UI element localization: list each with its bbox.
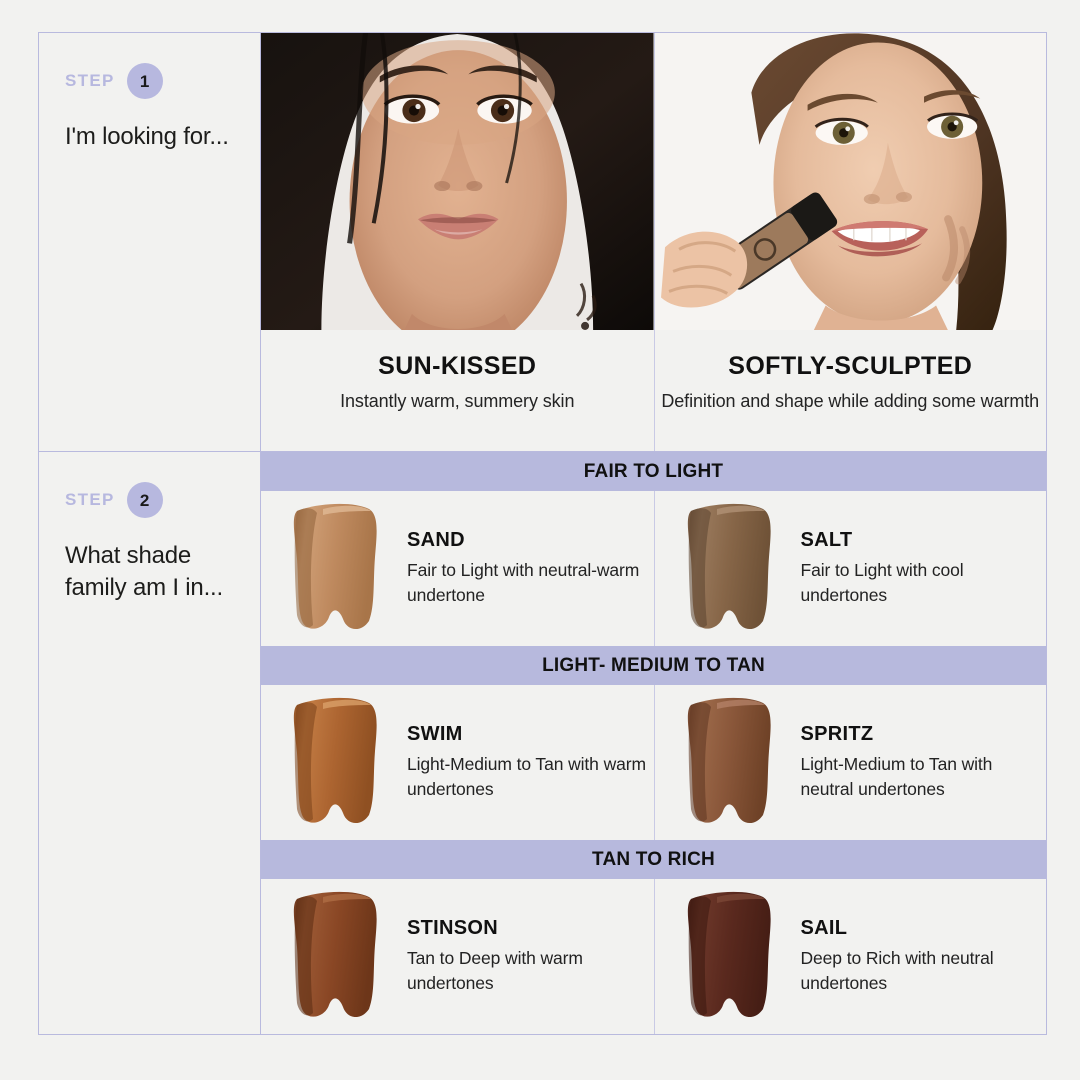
shade-row-tan-to-rich: STINSON Tan to Deep with warm undertones: [261, 879, 1046, 1034]
shade-text-spritz: SPRITZ Light-Medium to Tan with neutral …: [787, 723, 1047, 803]
step-2-label-cell: STEP 2 What shade family am I in...: [39, 452, 261, 1034]
shade-text-salt: SALT Fair to Light with cool undertones: [787, 529, 1047, 609]
step-2-band: STEP 2 What shade family am I in... FAIR…: [39, 452, 1046, 1034]
shade-desc-sand: Fair to Light with neutral-warm underton…: [407, 558, 654, 609]
shade-cell-spritz[interactable]: SPRITZ Light-Medium to Tan with neutral …: [654, 685, 1047, 840]
shade-group-fair-to-light: FAIR TO LIGHT: [261, 452, 1046, 646]
sun-kissed-title: SUN-KISSED: [261, 352, 654, 381]
shade-desc-swim: Light-Medium to Tan with warm undertones: [407, 752, 654, 803]
step-2-question: What shade family am I in...: [65, 540, 234, 603]
swatch-salt: [677, 499, 787, 639]
step-1-header: STEP 1: [65, 63, 234, 99]
swatch-spritz: [677, 693, 787, 833]
step-1-label-cell: STEP 1 I'm looking for...: [39, 33, 261, 451]
shade-row-light-medium-to-tan: SWIM Light-Medium to Tan with warm under…: [261, 685, 1046, 840]
softly-sculpted-caption: SOFTLY-SCULPTED Definition and shape whi…: [655, 330, 1047, 451]
shade-name-stinson: STINSON: [407, 917, 654, 940]
shade-name-spritz: SPRITZ: [801, 723, 1047, 746]
swatch-sail: [677, 887, 787, 1027]
shade-group-light-medium-to-tan: LIGHT- MEDIUM TO TAN: [261, 646, 1046, 840]
swatch-stinson: [283, 887, 393, 1027]
softly-sculpted-photo: [655, 33, 1047, 330]
step-2-header: STEP 2: [65, 482, 234, 518]
shade-name-salt: SALT: [801, 529, 1047, 552]
shade-name-sail: SAIL: [801, 917, 1047, 940]
group-header-fair-to-light: FAIR TO LIGHT: [261, 452, 1046, 491]
sun-kissed-photo: [261, 33, 654, 330]
shade-cell-sand[interactable]: SAND Fair to Light with neutral-warm und…: [261, 491, 654, 646]
shade-desc-salt: Fair to Light with cool undertones: [801, 558, 1047, 609]
step-2-word: STEP: [65, 490, 115, 510]
sun-kissed-caption: SUN-KISSED Instantly warm, summery skin: [261, 330, 654, 451]
step-1-word: STEP: [65, 71, 115, 91]
shade-group-tan-to-rich: TAN TO RICH: [261, 840, 1046, 1034]
step-1-question: I'm looking for...: [65, 121, 234, 153]
shade-finder-chart: STEP 1 I'm looking for...: [38, 32, 1047, 1035]
shade-desc-stinson: Tan to Deep with warm undertones: [407, 946, 654, 997]
swatch-swim: [283, 693, 393, 833]
step-1-band: STEP 1 I'm looking for...: [39, 33, 1046, 452]
sun-kissed-description: Instantly warm, summery skin: [261, 389, 654, 415]
shade-name-sand: SAND: [407, 529, 654, 552]
shade-row-fair-to-light: SAND Fair to Light with neutral-warm und…: [261, 491, 1046, 646]
softly-sculpted-description: Definition and shape while adding some w…: [655, 389, 1047, 415]
step-2-badge: 2: [127, 482, 163, 518]
shade-cell-salt[interactable]: SALT Fair to Light with cool undertones: [654, 491, 1047, 646]
look-option-sun-kissed[interactable]: SUN-KISSED Instantly warm, summery skin: [261, 33, 654, 451]
shade-cell-stinson[interactable]: STINSON Tan to Deep with warm undertones: [261, 879, 654, 1034]
shade-cell-swim[interactable]: SWIM Light-Medium to Tan with warm under…: [261, 685, 654, 840]
shade-text-stinson: STINSON Tan to Deep with warm undertones: [393, 917, 654, 997]
step-1-badge: 1: [127, 63, 163, 99]
look-options: SUN-KISSED Instantly warm, summery skin: [261, 33, 1046, 451]
shade-name-swim: SWIM: [407, 723, 654, 746]
softly-sculpted-title: SOFTLY-SCULPTED: [655, 352, 1047, 381]
group-header-tan-to-rich: TAN TO RICH: [261, 840, 1046, 879]
shade-family-groups: FAIR TO LIGHT: [261, 452, 1046, 1034]
shade-text-sail: SAIL Deep to Rich with neutral undertone…: [787, 917, 1047, 997]
shade-text-sand: SAND Fair to Light with neutral-warm und…: [393, 529, 654, 609]
shade-cell-sail[interactable]: SAIL Deep to Rich with neutral undertone…: [654, 879, 1047, 1034]
swatch-sand: [283, 499, 393, 639]
look-option-softly-sculpted[interactable]: SOFTLY-SCULPTED Definition and shape whi…: [654, 33, 1047, 451]
shade-text-swim: SWIM Light-Medium to Tan with warm under…: [393, 723, 654, 803]
group-header-light-medium-to-tan: LIGHT- MEDIUM TO TAN: [261, 646, 1046, 685]
shade-desc-spritz: Light-Medium to Tan with neutral underto…: [801, 752, 1047, 803]
shade-desc-sail: Deep to Rich with neutral undertones: [801, 946, 1047, 997]
